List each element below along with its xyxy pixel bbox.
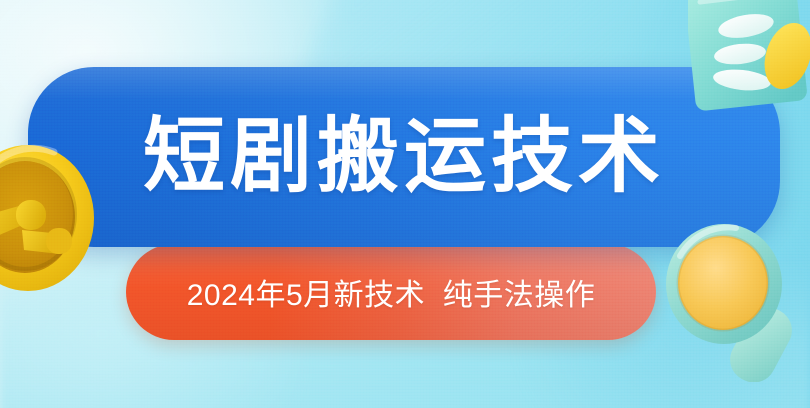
megaphone-icon	[0, 142, 110, 294]
magnifier-svg	[662, 222, 810, 382]
mint-card-svg	[688, 0, 810, 134]
title-banner	[28, 67, 780, 247]
megaphone-svg	[0, 142, 110, 294]
mint-card-icon	[688, 0, 810, 134]
magnifier-icon	[662, 222, 810, 382]
page-subtitle: 2024年5月新技术 纯手法操作	[126, 244, 656, 340]
poster-canvas: 短剧搬运技术 2024年5月新技术 纯手法操作	[0, 0, 810, 408]
